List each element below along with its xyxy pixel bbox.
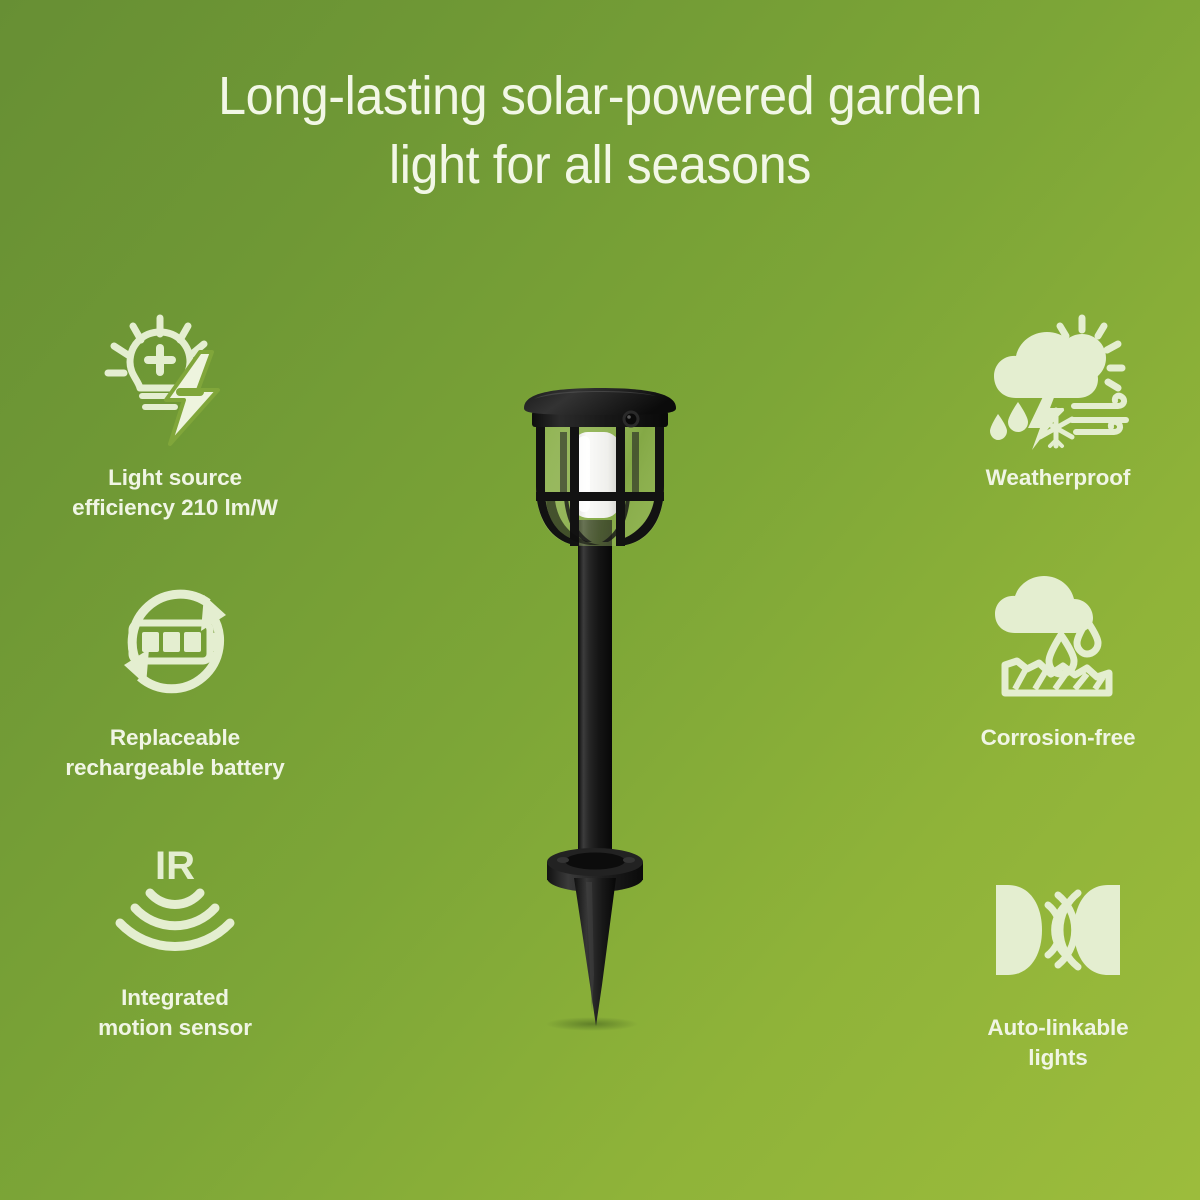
feature-replaceable-battery: Replaceable rechargeable battery xyxy=(25,565,325,783)
feature-label: Auto-linkable lights xyxy=(908,1013,1200,1073)
cloud-rain-corrosion-surface-icon xyxy=(908,565,1200,715)
feature-label: Integrated motion sensor xyxy=(25,983,325,1043)
weather-cloud-sun-rain-snow-wind-icon xyxy=(908,305,1200,455)
ir-motion-waves-icon: IR xyxy=(25,825,325,975)
lantern-cage xyxy=(536,424,664,546)
feature-light-source-efficiency: Light source efficiency 210 lm/W xyxy=(25,305,325,523)
feature-weatherproof: Weatherproof xyxy=(908,305,1200,493)
product-ground-shadow xyxy=(546,1017,638,1031)
feature-label: Corrosion-free xyxy=(908,723,1200,753)
flange-hole-right xyxy=(623,857,635,863)
feature-motion-sensor: IR Integrated motion sensor xyxy=(25,825,325,1043)
feature-corrosion-free: Corrosion-free xyxy=(908,565,1200,753)
light-sensor xyxy=(623,411,640,428)
svg-text:IR: IR xyxy=(155,844,195,888)
lantern-top-rim xyxy=(532,411,668,427)
product-ground-spike xyxy=(574,878,616,1026)
solar-panel-top xyxy=(524,388,676,415)
flange-hole-left xyxy=(557,857,569,863)
frosted-diffuser xyxy=(572,432,620,518)
two-way-wireless-link-icon xyxy=(908,855,1200,1005)
page-title: Long-lasting solar-powered garden light … xyxy=(135,62,1065,200)
bulb-plus-lightning-icon xyxy=(25,305,325,455)
feature-auto-linkable-lights: Auto-linkable lights xyxy=(908,855,1200,1073)
product-feature-infographic: Long-lasting solar-powered garden light … xyxy=(0,0,1200,1200)
feature-label: Weatherproof xyxy=(908,463,1200,493)
product-mounting-flange xyxy=(547,864,643,892)
battery-recycle-icon xyxy=(25,565,325,715)
feature-label: Light source efficiency 210 lm/W xyxy=(25,463,325,523)
lantern-glass xyxy=(536,424,664,546)
product-pole xyxy=(578,520,612,865)
feature-label: Replaceable rechargeable battery xyxy=(25,723,325,783)
